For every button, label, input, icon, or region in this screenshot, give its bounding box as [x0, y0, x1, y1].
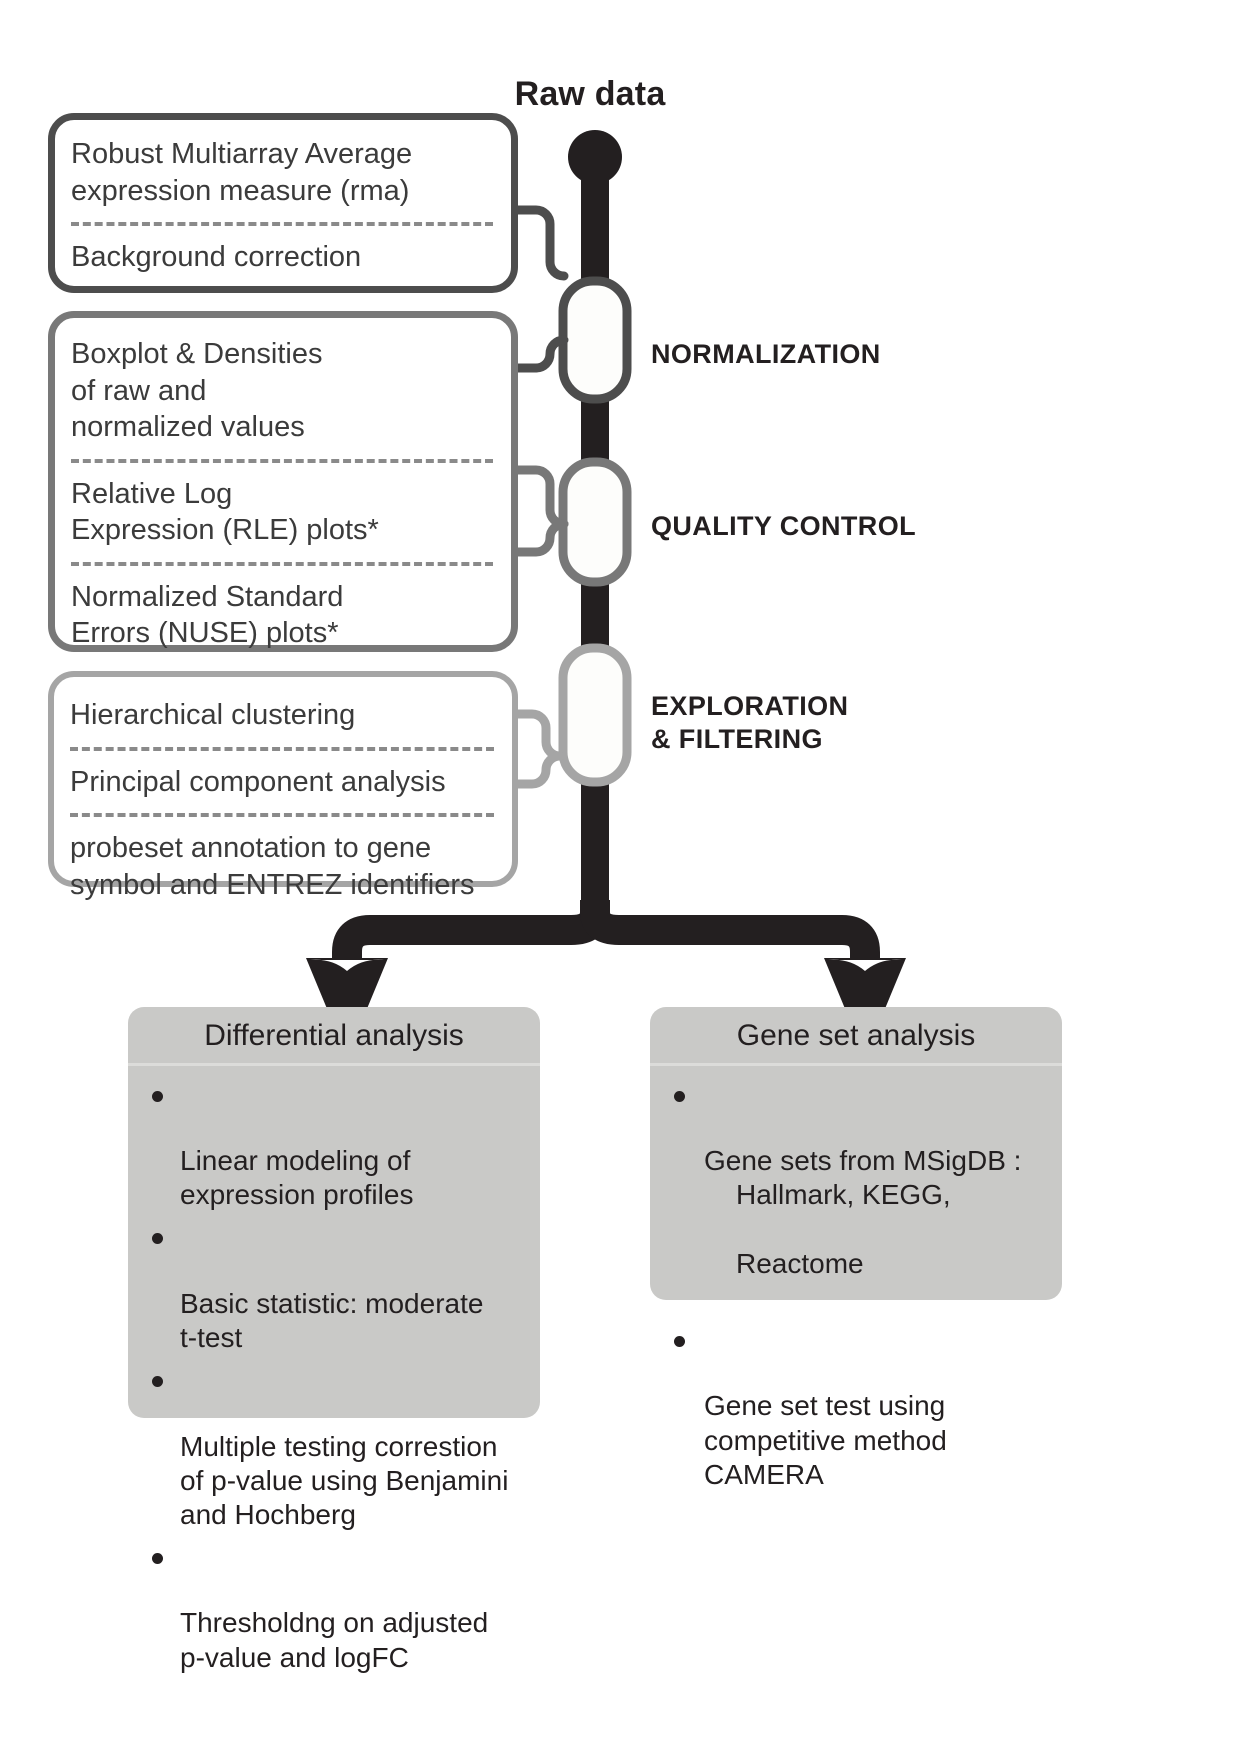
stage-node-quality-control	[563, 462, 627, 582]
list-item-text: Basic statistic: moderate t-test	[180, 1288, 483, 1353]
connector-qc-lower	[518, 524, 564, 552]
list-item-text: Gene set test using competitive method C…	[704, 1390, 947, 1489]
list-item: Multiple testing correstion of p-value u…	[150, 1361, 526, 1532]
panel-bullet-list: Linear modeling of expression profiles B…	[128, 1066, 540, 1691]
bullet-dot	[152, 1233, 163, 1244]
panel-bullet-list: Gene sets from MSigDB : Hallmark, KEGG, …	[650, 1066, 1062, 1508]
connector-qc-upper	[518, 470, 564, 524]
dashed-separator	[71, 562, 493, 566]
list-item-subline: Hallmark, KEGG,	[704, 1178, 1048, 1212]
stage-node-normalization	[563, 281, 627, 399]
list-item: Linear modeling of expression profiles	[150, 1076, 526, 1213]
bullet-dot	[674, 1336, 685, 1347]
bullet-dot	[152, 1553, 163, 1564]
spine-segment-1-2	[581, 395, 609, 463]
panel-header: Gene set analysis	[650, 1007, 1062, 1063]
list-item-text: Gene sets from MSigDB :	[704, 1145, 1021, 1176]
list-item: Thresholdng on adjusted p-value and logF…	[150, 1538, 526, 1675]
output-panel-differential-analysis: Differential analysis Linear modeling of…	[128, 1007, 540, 1418]
branch-right	[595, 900, 865, 978]
stage-node-exploration	[563, 648, 627, 782]
stage-label-normalization: NORMALIZATION	[651, 338, 881, 371]
stage-label-quality-control: QUALITY CONTROL	[651, 510, 916, 543]
connector-exploration-lower	[518, 756, 560, 784]
step-box-quality-control: Boxplot & Densities of raw and normalize…	[48, 311, 518, 652]
list-item: Basic statistic: moderate t-test	[150, 1219, 526, 1356]
bullet-dot	[152, 1091, 163, 1102]
step-item-text: Background correction	[71, 239, 495, 276]
diagram-canvas: Raw data Robust Multiarray Average expre…	[0, 0, 1240, 1753]
dashed-separator	[71, 222, 493, 226]
step-item-text: Normalized Standard Errors (NUSE) plots*	[71, 579, 495, 652]
bullet-dot	[674, 1091, 685, 1102]
panel-header: Differential analysis	[128, 1007, 540, 1063]
step-item-text: probeset annotation to gene symbol and E…	[70, 830, 496, 903]
step-item-text: Principal component analysis	[70, 764, 496, 801]
dashed-separator	[71, 459, 493, 463]
output-panel-gene-set-analysis: Gene set analysis Gene sets from MSigDB …	[650, 1007, 1062, 1300]
list-item-text: Linear modeling of expression profiles	[180, 1145, 413, 1210]
list-item-text: Thresholdng on adjusted p-value and logF…	[180, 1607, 488, 1672]
spine-segment-top	[581, 157, 609, 297]
stage-label-exploration: EXPLORATION & FILTERING	[651, 690, 848, 756]
dashed-separator	[70, 813, 494, 817]
list-item-subline: Reactome	[704, 1247, 1048, 1281]
step-item-text: Boxplot & Densities of raw and normalize…	[71, 336, 495, 446]
step-box-exploration: Hierarchical clustering Principal compon…	[48, 671, 518, 887]
page-title: Raw data	[460, 75, 720, 114]
list-item-text: Multiple testing correstion of p-value u…	[180, 1431, 508, 1530]
spine-segment-2-3	[581, 582, 609, 650]
connector-exploration-upper	[518, 714, 560, 756]
list-item: Gene sets from MSigDB : Hallmark, KEGG, …	[672, 1076, 1048, 1315]
step-item-text: Relative Log Expression (RLE) plots*	[71, 476, 495, 549]
step-box-normalization: Robust Multiarray Average expression mea…	[48, 113, 518, 293]
step-item-text: Robust Multiarray Average expression mea…	[71, 136, 495, 209]
step-item-text: Hierarchical clustering	[70, 697, 496, 734]
dashed-separator	[70, 747, 494, 751]
list-item: Gene set test using competitive method C…	[672, 1321, 1048, 1492]
connector-normalization-upper	[516, 210, 564, 276]
spine-segment-bottom	[581, 782, 609, 904]
bullet-dot	[152, 1376, 163, 1387]
